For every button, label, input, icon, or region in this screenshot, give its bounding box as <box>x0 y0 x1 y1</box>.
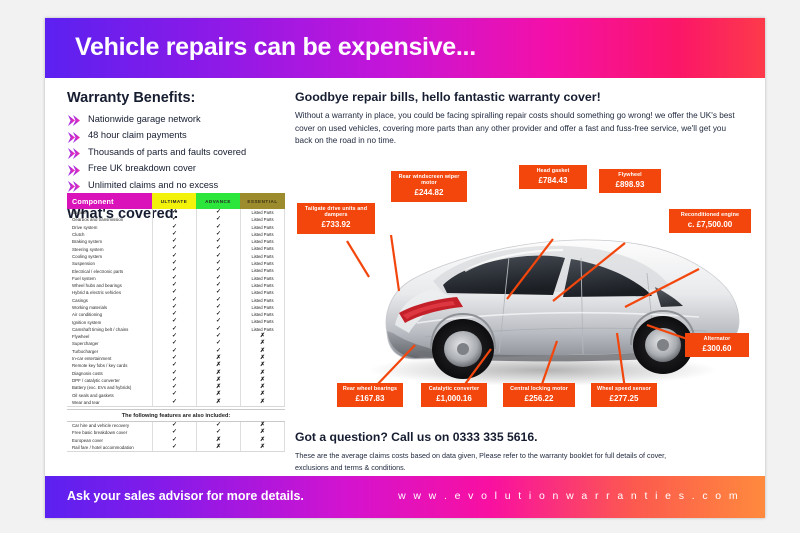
intro-section: Goodbye repair bills, hello fantastic wa… <box>295 90 745 148</box>
table-subheading: The following features are also included… <box>67 409 285 422</box>
table-row: Turbocharger✓✓✗ <box>67 348 285 355</box>
table-row: Camshaft timing belt / chains✓✓Listed Pa… <box>67 326 285 333</box>
callout-price: £244.82 <box>396 188 462 197</box>
footer-website[interactable]: w w w . e v o l u t i o n w a r r a n t … <box>398 490 740 502</box>
cell-component: Working materials <box>67 305 152 310</box>
callout-price: £784.43 <box>524 176 582 185</box>
table-row: Braking system✓✓Listed Parts <box>67 238 285 245</box>
cell-advance: ✗ <box>196 437 240 444</box>
callout-flywheel[interactable]: Flywheel £898.93 <box>599 169 661 193</box>
cell-essential: ✗ <box>240 362 285 369</box>
page-footer: Ask your sales advisor for more details.… <box>45 476 765 518</box>
cell-essential: Listed Parts <box>240 209 285 216</box>
cell-ultimate: ✓ <box>152 437 196 444</box>
cell-essential: Listed Parts <box>240 326 285 333</box>
cell-advance: ✓ <box>196 304 240 311</box>
cell-ultimate: ✓ <box>152 253 196 260</box>
cell-advance: ✓ <box>196 231 240 238</box>
table-row: Suspension✓✓Listed Parts <box>67 260 285 267</box>
benefit-item: Nationwide garage network <box>67 113 282 124</box>
cell-advance: ✗ <box>196 444 240 451</box>
cell-advance: ✓ <box>196 429 240 436</box>
cell-ultimate: ✓ <box>152 326 196 333</box>
table-row: Flywheel✓✓✗ <box>67 333 285 340</box>
intro-title: Goodbye repair bills, hello fantastic wa… <box>295 90 745 104</box>
page-header: Vehicle repairs can be expensive... <box>45 18 765 78</box>
cell-essential: Listed Parts <box>240 318 285 325</box>
cell-ultimate: ✓ <box>152 267 196 274</box>
cell-advance: ✓ <box>196 422 240 429</box>
cell-ultimate: ✓ <box>152 318 196 325</box>
cell-advance: ✗ <box>196 370 240 377</box>
cell-component: In-car entertainment <box>67 356 152 361</box>
cell-component: Fuel system <box>67 276 152 281</box>
table-row: Wear and tear✓✗✗ <box>67 399 285 406</box>
cell-ultimate: ✓ <box>152 444 196 451</box>
cell-component: Casings <box>67 298 152 303</box>
cell-ultimate: ✓ <box>152 391 196 398</box>
benefits-title: Warranty Benefits: <box>67 90 282 106</box>
cell-essential: Listed Parts <box>240 289 285 296</box>
arrow-bullet-icon <box>67 179 80 190</box>
cell-ultimate: ✓ <box>152 216 196 223</box>
cell-essential: ✗ <box>240 437 285 444</box>
cell-component: Gearbox and transmission <box>67 217 152 222</box>
table-row: Gearbox and transmission✓✓Listed Parts <box>67 216 285 223</box>
cell-ultimate: ✓ <box>152 422 196 429</box>
column-header-ultimate: ULTIMATE <box>152 193 196 209</box>
callout-label: Alternator <box>690 336 744 342</box>
table-row: Ignition system✓✓Listed Parts <box>67 318 285 325</box>
cell-component: Remote key fobs / key cards <box>67 363 152 368</box>
cell-ultimate: ✓ <box>152 304 196 311</box>
table-row: Supercharger✓✓✗ <box>67 340 285 347</box>
benefit-item: Unlimited claims and no excess <box>67 179 282 190</box>
cell-advance: ✓ <box>196 209 240 216</box>
cell-component: Car hire and vehicle recovery <box>67 423 152 428</box>
callout-label: Rear windscreen wiper motor <box>396 174 462 186</box>
cell-essential: ✗ <box>240 399 285 406</box>
callout-price: c. £7,500.00 <box>674 220 746 229</box>
callout-price: £277.25 <box>596 394 652 403</box>
column-header-component: Component <box>67 193 152 209</box>
table-row: Remote key fobs / key cards✓✗✗ <box>67 362 285 369</box>
cell-advance: ✓ <box>196 245 240 252</box>
callout-central-locking-motor[interactable]: Central locking motor £256.22 <box>503 383 575 407</box>
callout-price: £300.60 <box>690 344 744 353</box>
benefit-label: Free UK breakdown cover <box>88 163 196 173</box>
cell-advance: ✗ <box>196 399 240 406</box>
cell-component: European cover <box>67 438 152 443</box>
cell-ultimate: ✓ <box>152 297 196 304</box>
table-row: Rail fare / hotel accommodation✓✗✗ <box>67 444 285 451</box>
table-row: Wheel hubs and bearings✓✓Listed Parts <box>67 282 285 289</box>
cell-advance: ✓ <box>196 289 240 296</box>
car-diagram: Tailgate drive units and dampers £733.92… <box>295 173 755 423</box>
cell-ultimate: ✓ <box>152 282 196 289</box>
cell-essential: Listed Parts <box>240 297 285 304</box>
cell-advance: ✓ <box>196 260 240 267</box>
cell-component: Electrical / electronic parts <box>67 269 152 274</box>
cell-essential: Listed Parts <box>240 253 285 260</box>
cell-component: Free basic breakdown cover <box>67 430 152 435</box>
cell-component: Oil seals and gaskets <box>67 393 152 398</box>
table-header-row: Component ULTIMATE ADVANCE ESSENTIAL <box>67 193 285 209</box>
cell-ultimate: ✓ <box>152 362 196 369</box>
callout-price: £1,000.16 <box>426 394 482 403</box>
table-subheading-label: The following features are also included… <box>67 413 285 419</box>
table-row: Electrical / electronic parts✓✓Listed Pa… <box>67 267 285 274</box>
cell-component: Clutch <box>67 232 152 237</box>
table-row: Clutch✓✓Listed Parts <box>67 231 285 238</box>
cell-essential: Listed Parts <box>240 304 285 311</box>
cell-advance: ✓ <box>196 253 240 260</box>
cell-essential: ✗ <box>240 340 285 347</box>
table-row: Working materials✓✓Listed Parts <box>67 304 285 311</box>
callout-wheel-speed-sensor[interactable]: Wheel speed sensor £277.25 <box>591 383 657 407</box>
column-header-essential: ESSENTIAL <box>240 193 285 209</box>
cell-ultimate: ✓ <box>152 377 196 384</box>
cell-advance: ✗ <box>196 391 240 398</box>
cell-component: Suspension <box>67 261 152 266</box>
cell-essential: ✗ <box>240 348 285 355</box>
cell-advance: ✓ <box>196 267 240 274</box>
callout-price: £898.93 <box>604 180 656 189</box>
cell-essential: Listed Parts <box>240 245 285 252</box>
cell-component: Flywheel <box>67 334 152 339</box>
cell-essential: Listed Parts <box>240 216 285 223</box>
table-body: Engine✓✓Listed PartsGearbox and transmis… <box>67 209 285 407</box>
table-row: Steering system✓✓Listed Parts <box>67 245 285 252</box>
table-row: Engine✓✓Listed Parts <box>67 209 285 216</box>
benefit-label: Thousands of parts and faults covered <box>88 147 246 157</box>
table-row: Diagnosis costs✓✗✗ <box>67 370 285 377</box>
table-row: In-car entertainment✓✗✗ <box>67 355 285 362</box>
cell-component: Drive system <box>67 225 152 230</box>
cell-advance: ✓ <box>196 297 240 304</box>
callout-label: Wheel speed sensor <box>596 386 652 392</box>
callout-alternator[interactable]: Alternator £300.60 <box>685 333 749 357</box>
table-row: Free basic breakdown cover✓✓✗ <box>67 429 285 436</box>
cell-advance: ✓ <box>196 340 240 347</box>
callout-label: Rear wheel bearings <box>342 386 398 392</box>
cell-ultimate: ✓ <box>152 429 196 436</box>
table-row: Drive system✓✓Listed Parts <box>67 224 285 231</box>
callout-reconditioned-engine[interactable]: Reconditioned engine c. £7,500.00 <box>669 209 751 233</box>
benefit-label: Nationwide garage network <box>88 114 201 124</box>
cell-advance: ✓ <box>196 238 240 245</box>
arrow-bullet-icon <box>67 163 80 174</box>
cell-component: Camshaft timing belt / chains <box>67 327 152 332</box>
cell-component: Battery (exc. EVs and hybrids) <box>67 385 152 390</box>
cell-essential: Listed Parts <box>240 282 285 289</box>
cell-advance: ✓ <box>196 216 240 223</box>
cell-essential: ✗ <box>240 370 285 377</box>
callout-rear-windscreen-wiper-motor[interactable]: Rear windscreen wiper motor £244.82 <box>391 171 467 202</box>
cell-ultimate: ✓ <box>152 231 196 238</box>
cell-advance: ✓ <box>196 224 240 231</box>
benefit-item: 48 hour claim payments <box>67 130 282 141</box>
callout-label: Central locking motor <box>508 386 570 392</box>
table-row: DPF / catalytic converter✓✗✗ <box>67 377 285 384</box>
callout-label: Reconditioned engine <box>674 212 746 218</box>
cell-advance: ✓ <box>196 318 240 325</box>
callout-price: £256.22 <box>508 394 570 403</box>
benefit-item: Thousands of parts and faults covered <box>67 146 282 157</box>
contact-title[interactable]: Got a question? Call us on 0333 335 5616… <box>295 430 695 444</box>
cell-ultimate: ✓ <box>152 209 196 216</box>
cell-essential: ✗ <box>240 391 285 398</box>
cell-component: Air conditioning <box>67 312 152 317</box>
cell-ultimate: ✓ <box>152 245 196 252</box>
cell-essential: ✗ <box>240 429 285 436</box>
cell-component: Wear and tear <box>67 400 152 405</box>
cell-component: Hybrid & electric vehicles <box>67 290 152 295</box>
cell-essential: Listed Parts <box>240 267 285 274</box>
cell-ultimate: ✓ <box>152 260 196 267</box>
table-extra-body: Car hire and vehicle recovery✓✓✗Free bas… <box>67 422 285 452</box>
cell-ultimate: ✓ <box>152 348 196 355</box>
cell-component: Engine <box>67 210 152 215</box>
callout-price: £733.92 <box>302 220 370 229</box>
cell-component: Steering system <box>67 247 152 252</box>
arrow-bullet-icon <box>67 113 80 124</box>
cell-component: Diagnosis costs <box>67 371 152 376</box>
cell-component: DPF / catalytic converter <box>67 378 152 383</box>
table-row: Air conditioning✓✓Listed Parts <box>67 311 285 318</box>
cell-advance: ✓ <box>196 275 240 282</box>
table-row: Hybrid & electric vehicles✓✓Listed Parts <box>67 289 285 296</box>
cell-component: Supercharger <box>67 341 152 346</box>
cell-component: Rail fare / hotel accommodation <box>67 445 152 450</box>
cell-ultimate: ✓ <box>152 238 196 245</box>
callout-catalytic-converter[interactable]: Catalytic converter £1,000.16 <box>421 383 487 407</box>
cell-component: Cooling system <box>67 254 152 259</box>
callout-label: Flywheel <box>604 172 656 178</box>
brochure-page: Vehicle repairs can be expensive... Warr… <box>45 18 765 518</box>
benefits-list: Nationwide garage network48 hour claim p… <box>67 113 282 190</box>
table-row: Fuel system✓✓Listed Parts <box>67 275 285 282</box>
benefit-label: 48 hour claim payments <box>88 130 187 140</box>
cell-ultimate: ✓ <box>152 340 196 347</box>
cell-advance: ✗ <box>196 362 240 369</box>
cell-advance: ✓ <box>196 333 240 340</box>
front-wheel <box>633 316 693 374</box>
callout-label: Catalytic converter <box>426 386 482 392</box>
benefit-label: Unlimited claims and no excess <box>88 180 218 190</box>
callout-price: £167.83 <box>342 394 398 403</box>
cell-ultimate: ✓ <box>152 384 196 391</box>
cell-component: Turbocharger <box>67 349 152 354</box>
table-row: Casings✓✓Listed Parts <box>67 297 285 304</box>
cell-ultimate: ✓ <box>152 370 196 377</box>
callout-tailgate-drive-units[interactable]: Tailgate drive units and dampers £733.92 <box>297 203 375 234</box>
cell-essential: ✗ <box>240 444 285 451</box>
benefit-item: Free UK breakdown cover <box>67 163 282 174</box>
callout-label: Tailgate drive units and dampers <box>302 206 370 218</box>
contact-section: Got a question? Call us on 0333 335 5616… <box>295 430 695 473</box>
callout-label: Head gasket <box>524 168 582 174</box>
table-row: European cover✓✗✗ <box>67 437 285 444</box>
cell-ultimate: ✓ <box>152 224 196 231</box>
cell-essential: Listed Parts <box>240 275 285 282</box>
cell-component: Braking system <box>67 239 152 244</box>
intro-paragraph: Without a warranty in place, you could b… <box>295 110 741 148</box>
cell-essential: Listed Parts <box>240 238 285 245</box>
cell-ultimate: ✓ <box>152 399 196 406</box>
footer-cta-text: Ask your sales advisor for more details. <box>67 489 304 503</box>
cell-advance: ✓ <box>196 348 240 355</box>
cell-component: Wheel hubs and bearings <box>67 283 152 288</box>
cell-ultimate: ✓ <box>152 289 196 296</box>
page-title: Vehicle repairs can be expensive... <box>75 33 476 62</box>
contact-disclaimer: These are the average claims costs based… <box>295 450 695 473</box>
cell-ultimate: ✓ <box>152 333 196 340</box>
cell-component: Ignition system <box>67 320 152 325</box>
cell-advance: ✓ <box>196 311 240 318</box>
coverage-table: Component ULTIMATE ADVANCE ESSENTIAL Eng… <box>67 193 285 452</box>
column-header-advance: ADVANCE <box>196 193 240 209</box>
callout-head-gasket[interactable]: Head gasket £784.43 <box>519 165 587 189</box>
table-row: Car hire and vehicle recovery✓✓✗ <box>67 422 285 429</box>
cell-essential: Listed Parts <box>240 260 285 267</box>
cell-advance: ✓ <box>196 326 240 333</box>
rear-wheel <box>432 319 494 379</box>
arrow-bullet-icon <box>67 130 80 141</box>
arrow-bullet-icon <box>67 146 80 157</box>
cell-ultimate: ✓ <box>152 275 196 282</box>
cell-ultimate: ✓ <box>152 355 196 362</box>
cell-essential: Listed Parts <box>240 224 285 231</box>
table-row: Cooling system✓✓Listed Parts <box>67 253 285 260</box>
table-row: Oil seals and gaskets✓✗✗ <box>67 391 285 398</box>
callout-rear-wheel-bearings[interactable]: Rear wheel bearings £167.83 <box>337 383 403 407</box>
cell-essential: Listed Parts <box>240 311 285 318</box>
cell-essential: Listed Parts <box>240 231 285 238</box>
cell-advance: ✓ <box>196 282 240 289</box>
cell-ultimate: ✓ <box>152 311 196 318</box>
table-row: Battery (exc. EVs and hybrids)✓✗✗ <box>67 384 285 391</box>
